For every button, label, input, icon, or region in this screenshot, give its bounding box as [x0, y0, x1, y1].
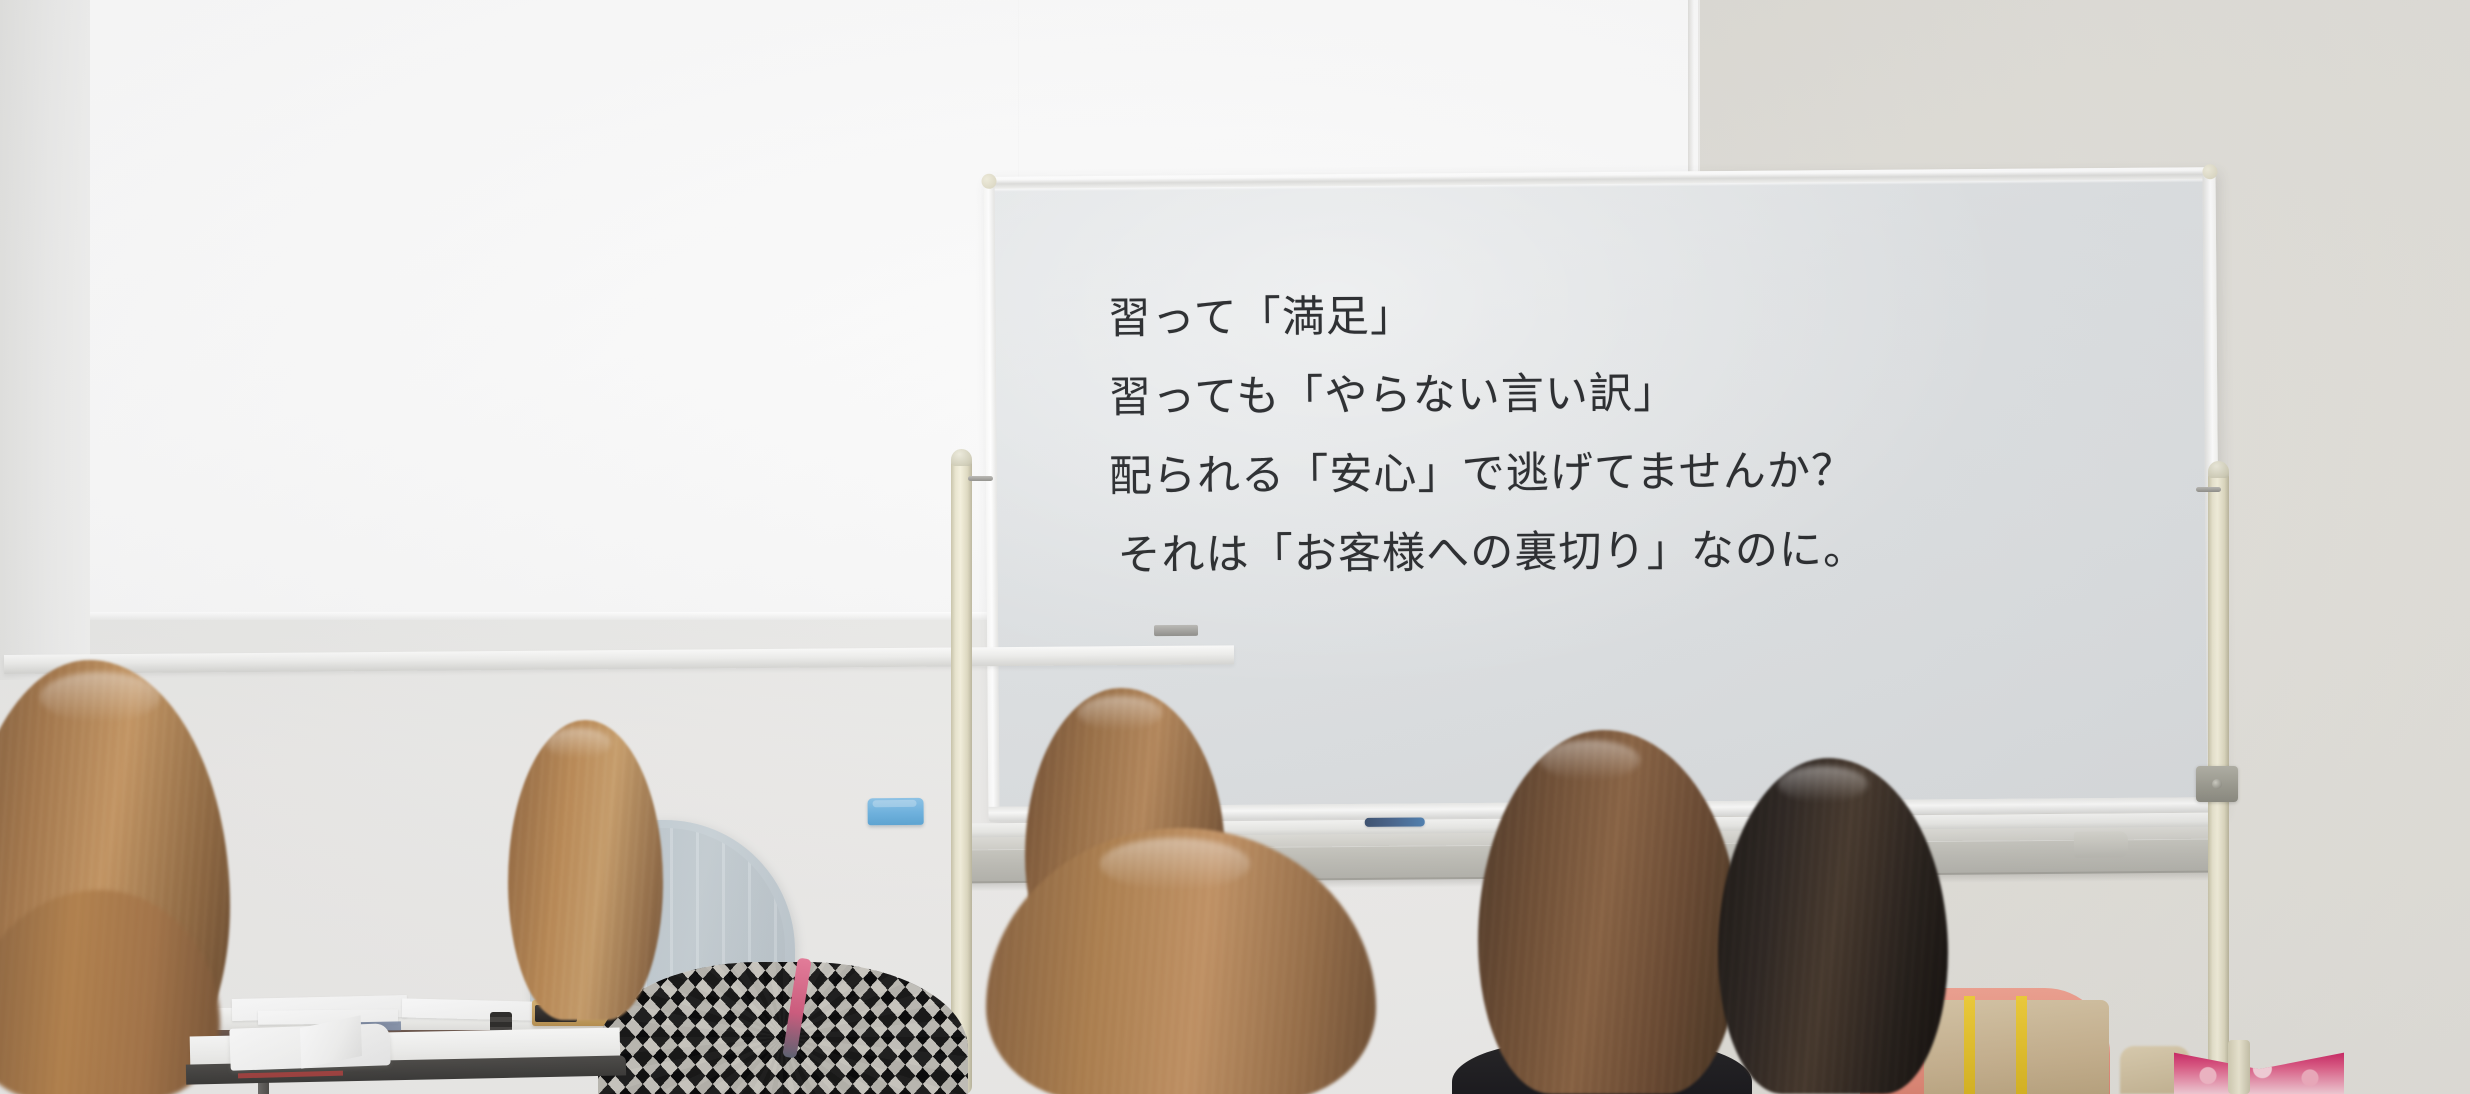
whiteboard-text-block: 習って「満足」 習っても「やらない言い訳」 配られる「安心」で逃げてませんか？ … [1107, 272, 2109, 596]
whiteboard-brand-badge [1154, 625, 1198, 636]
whiteboard-line-2: 習っても「やらない言い訳」 [1108, 351, 2109, 438]
hair-parting [1540, 740, 1640, 780]
tote-strap-yellow [1964, 996, 1975, 1094]
whiteboard-line-4: それは「お客様への裏切り」なのに。 [1109, 509, 2110, 596]
head-back [1718, 758, 1948, 1094]
whiteboard-corner-cap [2202, 164, 2217, 179]
whiteboard-stand-post-left [951, 455, 972, 1094]
hair-parting [1778, 766, 1868, 802]
stand-post-cap-left [951, 449, 972, 466]
hair-parting [1078, 696, 1162, 730]
hair-parting [1100, 838, 1250, 890]
whiteboard-eraser [868, 798, 924, 825]
whiteboard-line-3: 配られる「安心」で逃げてませんか？ [1109, 430, 2110, 517]
hair-parting [545, 728, 611, 758]
blue-marker [1365, 817, 1425, 827]
tote-strap-yellow [2016, 996, 2027, 1094]
whiteboard-line-1: 習って「満足」 [1107, 272, 2108, 359]
head-back [508, 720, 663, 1020]
left-wall-corner-shadow [0, 0, 90, 680]
hair-parting [40, 672, 160, 722]
stand-pivot-knob-right [2196, 487, 2221, 492]
head-back [0, 890, 220, 1094]
whiteboard-corner-cap [981, 174, 996, 189]
head-back [1478, 730, 1740, 1094]
pen-tray-end-cap [2074, 831, 2128, 857]
stand-post-cap-right [2208, 461, 2229, 478]
stand-pivot-knob-left [968, 476, 993, 481]
stand-mount-bracket-right [2196, 766, 2238, 802]
classroom-photo-scene: 習って「満足」 習っても「やらない言い訳」 配られる「安心」で逃げてませんか？ … [0, 0, 2470, 1094]
stand-post-lower-right [2228, 1040, 2250, 1094]
